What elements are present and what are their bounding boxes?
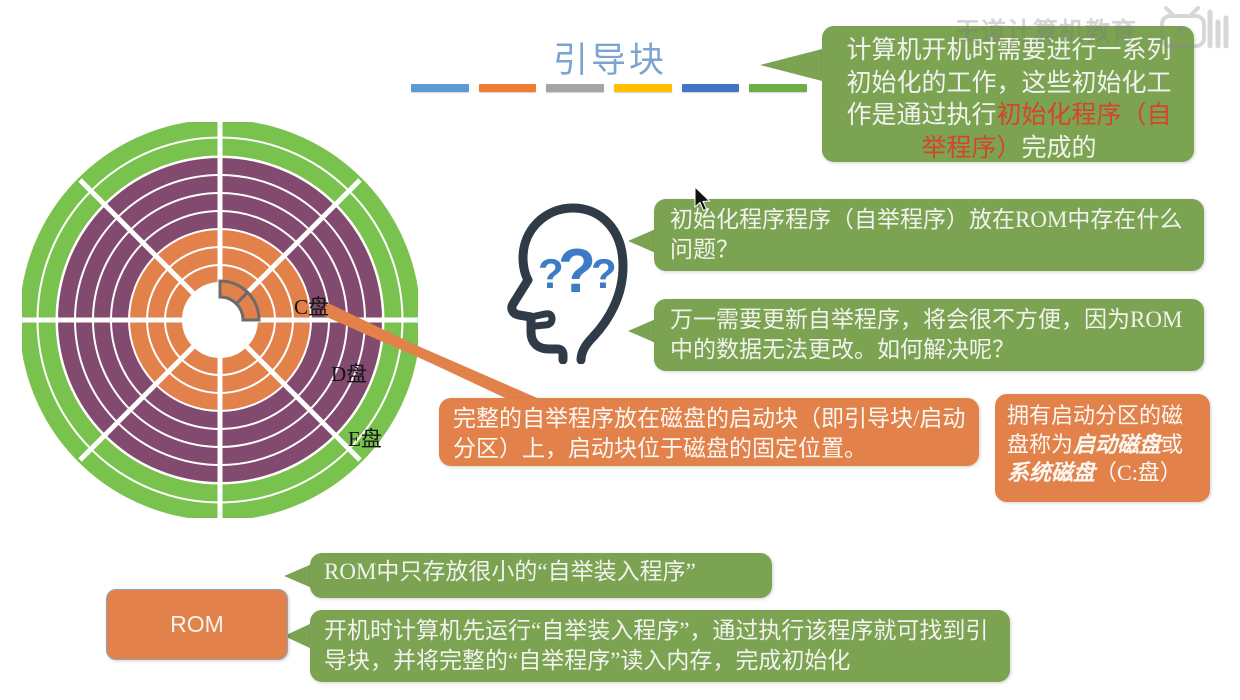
callout-intro: 计算机开机时需要进行一系列初始化的工作，这些初始化工作是通过执行初始化程序（自举… (822, 26, 1194, 162)
mouse-cursor-icon (694, 186, 712, 212)
disk-platter-diagram (22, 122, 418, 518)
disk-label-c: C盘 (294, 291, 329, 321)
title-bar-blue (411, 84, 469, 92)
boot-disk-part-3: 或 (1161, 432, 1183, 457)
rom-box-label: ROM (170, 611, 224, 638)
callout-intro-text-after: 完成的 (1022, 135, 1097, 162)
callout-rom-small-tail (284, 564, 312, 588)
title-bar-navy (682, 84, 740, 92)
callout-boot-disk-text: 拥有启动分区的磁盘称为启动磁盘或系统磁盘（C:盘） (1007, 402, 1200, 488)
question-marks: ? ? ? (538, 237, 617, 306)
disk-label-d: D盘 (331, 358, 367, 388)
svg-text:?: ? (591, 250, 617, 297)
disk-sector-dividers (22, 122, 418, 518)
title-bar-green (749, 84, 807, 92)
boot-disk-emphasis-1: 启动磁盘 (1073, 432, 1161, 457)
callout-intro-tail (760, 48, 826, 82)
boot-disk-part-5: （C:盘） (1095, 460, 1182, 485)
callout-question-1-text: 初始化程序程序（自举程序）放在ROM中存在什么问题？ (670, 205, 1194, 265)
callout-intro-text: 计算机开机时需要进行一系列初始化的工作，这些初始化工作是通过执行初始化程序（自举… (840, 35, 1178, 165)
callout-rom-small-text: ROM中只存放很小的“自举装入程序” (324, 557, 762, 587)
slide-canvas: 王道计算机教育 引导块 (0, 0, 1240, 700)
callout-boot-disk: 拥有启动分区的磁盘称为启动磁盘或系统磁盘（C:盘） (995, 394, 1210, 502)
callout-boot-block: 完整的自举程序放在磁盘的启动块（即引导块/启动分区）上，启动块位于磁盘的固定位置… (439, 398, 979, 466)
title-bar-gray (546, 84, 604, 92)
rom-box: ROM (106, 589, 288, 660)
callout-boot-sequence: 开机时计算机先运行“自举装入程序”，通过执行该程序就可找到引导块，并将完整的“自… (310, 610, 1010, 682)
disk-rings-svg (22, 122, 418, 518)
callout-question-1: 初始化程序程序（自举程序）放在ROM中存在什么问题？ (654, 199, 1204, 271)
callout-boot-sequence-text: 开机时计算机先运行“自举装入程序”，通过执行该程序就可找到引导块，并将完整的“自… (324, 616, 1000, 676)
title-bar-orange (479, 84, 537, 92)
boot-disk-emphasis-2: 系统磁盘 (1007, 460, 1095, 485)
callout-question-2: 万一需要更新自举程序，将会很不方便，因为ROM中的数据无法更改。如何解决呢？ (654, 299, 1204, 371)
callout-boot-block-text: 完整的自举程序放在磁盘的启动块（即引导块/启动分区）上，启动块位于磁盘的固定位置… (453, 404, 969, 464)
title-bar-gold (614, 84, 672, 92)
callout-question-2-text: 万一需要更新自举程序，将会很不方便，因为ROM中的数据无法更改。如何解决呢？ (670, 305, 1194, 365)
callout-rom-small: ROM中只存放很小的“自举装入程序” (310, 553, 772, 598)
page-title: 引导块 (520, 32, 700, 83)
callout-boot-sequence-tail (284, 623, 312, 649)
disk-label-e: E盘 (348, 423, 382, 453)
title-decoration-bars (411, 84, 807, 94)
